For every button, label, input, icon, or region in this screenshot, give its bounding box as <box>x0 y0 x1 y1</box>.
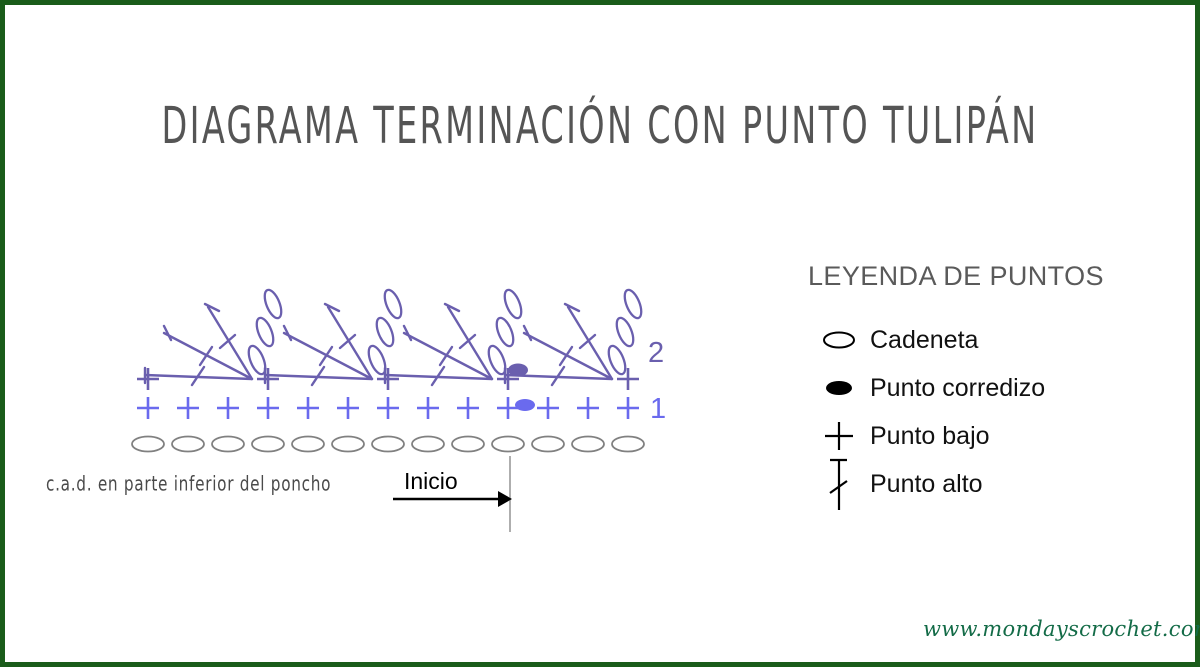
start-label: Inicio <box>404 468 458 495</box>
row-2-single-crochets <box>137 368 639 390</box>
legend-label-punto-alto: Punto alto <box>870 470 983 499</box>
filled-oval-icon <box>808 375 870 401</box>
tulip-motif-3 <box>385 288 525 385</box>
legend-label-punto-bajo: Punto bajo <box>870 422 990 451</box>
legend-label-cadeneta: Cadeneta <box>870 326 978 355</box>
double-crochet-icon <box>808 455 870 513</box>
open-oval-icon <box>808 327 870 353</box>
row-number-1: 1 <box>650 393 666 426</box>
plus-cross-icon <box>808 419 870 453</box>
row-1-stitches <box>137 397 639 419</box>
row-2-tulip-motifs <box>145 288 645 385</box>
legend-panel: LEYENDA DE PUNTOS Cadeneta Punto corredi… <box>808 261 1138 508</box>
legend-item-punto-bajo: Punto bajo <box>808 412 1138 460</box>
foundation-chain-row <box>132 437 644 452</box>
site-url: www.mondayscrochet.com <box>923 617 1200 641</box>
row-1-slip-stitch <box>515 399 535 411</box>
bottom-note: c.a.d. en parte inferior del poncho <box>46 473 331 497</box>
legend-item-cadeneta: Cadeneta <box>808 316 1138 364</box>
tulip-motif-2 <box>265 288 405 385</box>
tulip-motif-1 <box>145 288 285 385</box>
legend-label-punto-corredizo: Punto corredizo <box>870 374 1045 403</box>
legend-items: Cadeneta Punto corredizo Punto bajo <box>808 316 1138 508</box>
poster-canvas: DIAGRAMA TERMINACIÓN CON PUNTO TULIPÁN <box>0 0 1200 667</box>
row-2-slip-stitch <box>508 364 528 377</box>
legend-item-punto-alto: Punto alto <box>808 460 1138 508</box>
row-number-2: 2 <box>648 337 664 370</box>
legend-item-punto-corredizo: Punto corredizo <box>808 364 1138 412</box>
legend-title: LEYENDA DE PUNTOS <box>808 261 1138 292</box>
